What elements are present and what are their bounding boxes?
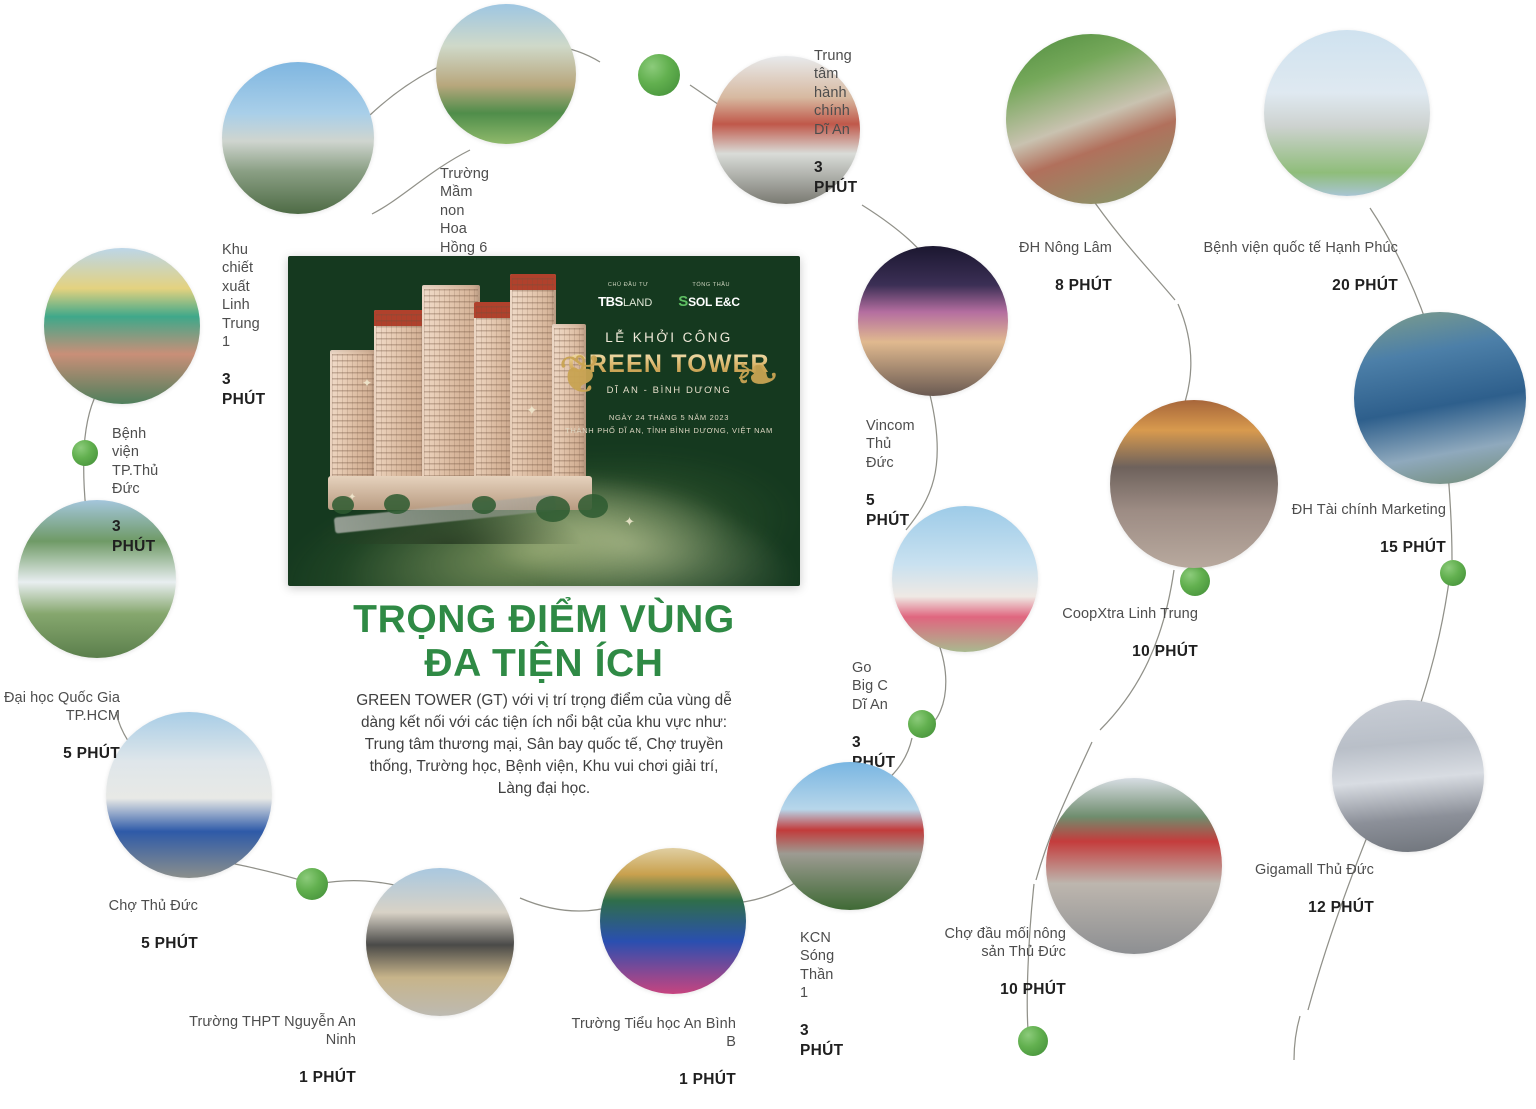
solenc-logo-mark: S (678, 293, 688, 310)
poi-name: Đại học Quốc Gia TP.HCM (2, 689, 120, 726)
photo-placeholder (1332, 700, 1484, 852)
sparkle-icon: ✦ (348, 492, 356, 503)
poi-image-kcn-song-than-1 (776, 762, 924, 910)
solenc-logo: SSOL E&C (678, 293, 740, 310)
poi-caption-dai-hoc-quoc-gia-tphcm: Đại học Quốc Gia TP.HCM 5 PHÚT (2, 670, 120, 783)
poi-name: Chợ Thủ Đức (60, 897, 198, 916)
poi-caption-cho-thu-duc: Chợ Thủ Đức 5 PHÚT (60, 878, 198, 972)
tower-c (422, 285, 480, 500)
poi-time: 12 PHÚT (1234, 898, 1374, 918)
poi-caption-trung-tam-hanh-chinh-di-an: Trung tâm hành chính Dĩ An 3 PHÚT (814, 28, 857, 216)
poster-location-text: DĨ AN - BÌNH DƯƠNG (599, 385, 740, 396)
photo-placeholder (600, 848, 746, 994)
sparkle-icon: ✦ (624, 514, 635, 530)
tree (472, 496, 496, 514)
photo-placeholder (366, 868, 514, 1016)
poi-time: 3 PHÚT (814, 158, 857, 198)
infographic-canvas: Khu chiết xuất Linh Trung 1 3 PHÚT Trườn… (0, 0, 1536, 1062)
photo-placeholder (44, 248, 200, 404)
poi-caption-benh-vien-quoc-te-hanh-phuc: Bệnh viện quốc tế Hạnh Phúc 20 PHÚT (1170, 220, 1398, 314)
poi-caption-truong-thpt-nguyen-an-ninh: Trường THPT Nguyễn An Ninh 1 PHÚT (180, 994, 356, 1107)
poi-caption-gigamall-thu-duc: Gigamall Thủ Đức 12 PHÚT (1234, 842, 1374, 936)
photo-placeholder (776, 762, 924, 910)
poi-time: 20 PHÚT (1170, 276, 1398, 296)
laurel-left-icon: ❦ (558, 348, 603, 402)
photo-placeholder (1354, 312, 1526, 484)
photo-placeholder (892, 506, 1038, 652)
tower-roof-accent (374, 310, 426, 326)
poi-time: 5 PHÚT (2, 744, 120, 764)
poi-image-benh-vien-tp-thu-duc (44, 248, 200, 404)
path-dot-left-upper (72, 440, 98, 466)
poster-place-line: THÀNH PHỐ DĨ AN, TỈNH BÌNH DƯƠNG, VIỆT N… (554, 426, 784, 435)
poi-time: 3 PHÚT (222, 370, 265, 410)
poi-image-cho-dau-moi-nong-san-thu-duc (1046, 778, 1222, 954)
poi-time: 10 PHÚT (940, 980, 1066, 1000)
poi-time: 10 PHÚT (1010, 642, 1198, 662)
poi-caption-coopxtra-linh-trung: CoopXtra Linh Trung 10 PHÚT (1010, 586, 1198, 680)
photo-placeholder (1264, 30, 1430, 196)
poster-logos: TBSLAND SSOL E&C (554, 293, 784, 310)
tower-b (374, 310, 426, 500)
headline-line-2: ĐA TIỆN ÍCH (288, 642, 800, 686)
poster-role-labels: CHỦ ĐẦU TƯ TỔNG THẦU (554, 282, 784, 288)
poi-time: 3 PHÚT (800, 1021, 843, 1061)
path-dot-top (638, 54, 680, 96)
poi-caption-cho-dau-moi-nong-san-thu-duc: Chợ đầu mối nông sản Thủ Đức 10 PHÚT (940, 906, 1066, 1019)
poi-image-truong-mam-non-hoa-hong-6 (436, 4, 576, 144)
poster-event-line: LỄ KHỞI CÔNG (554, 330, 784, 345)
photo-placeholder (1046, 778, 1222, 954)
poi-image-truong-thpt-nguyen-an-ninh (366, 868, 514, 1016)
poi-image-dh-tai-chinh-marketing (1354, 312, 1526, 484)
tower-d (474, 302, 514, 500)
poi-image-benh-vien-quoc-te-hanh-phuc (1264, 30, 1430, 196)
poi-name: Trường Tiểu học An Bình B (560, 1015, 736, 1052)
path-dot-bottom-center (908, 710, 936, 738)
tower-roof-accent (474, 302, 514, 318)
poi-time: 1 PHÚT (180, 1068, 356, 1088)
poi-image-go-big-c-di-an (892, 506, 1038, 652)
poi-name: Trung tâm hành chính Dĩ An (814, 47, 857, 140)
path-dot-bottom-left (296, 868, 328, 900)
photo-placeholder (858, 246, 1008, 396)
project-poster: ✦ ✦ ✦ ✦ CHỦ ĐẦU TƯ TỔNG THẦU TBSLAND SSO… (288, 256, 800, 586)
photo-placeholder (222, 62, 374, 214)
poi-name: Vincom Thủ Đức (866, 417, 915, 473)
poi-name: Chợ đầu mối nông sản Thủ Đức (940, 925, 1066, 962)
photo-placeholder (1110, 400, 1278, 568)
solenc-logo-text: SOL E&C (688, 295, 740, 309)
poster-date-line: NGÀY 24 THÁNG 5 NĂM 2023 (554, 413, 784, 422)
poi-time: 1 PHÚT (560, 1070, 736, 1090)
tbsland-logo-mark: TBS (598, 294, 623, 309)
photo-placeholder (436, 4, 576, 144)
poi-name: Gigamall Thủ Đức (1234, 861, 1374, 880)
sparkle-icon: ✦ (526, 402, 538, 419)
poi-image-cho-thu-duc (106, 712, 272, 878)
poi-name: KCN Sóng Thần 1 (800, 929, 843, 1003)
tbsland-logo-suffix: LAND (623, 297, 652, 309)
page-title: TRỌNG ĐIỂM VÙNG ĐA TIỆN ÍCH (288, 598, 800, 687)
poi-name: Go Big C Dĩ An (852, 659, 895, 715)
poi-name: Bệnh viện quốc tế Hạnh Phúc (1170, 239, 1398, 258)
poi-caption-kcn-song-than-1: KCN Sóng Thần 1 3 PHÚT (800, 910, 843, 1079)
headline-line-1: TRỌNG ĐIỂM VÙNG (288, 598, 800, 642)
poi-caption-khu-chiet-xuat-linh-trung-1: Khu chiết xuất Linh Trung 1 3 PHÚT (222, 222, 265, 429)
intro-paragraph: GREEN TOWER (GT) với vị trí trọng điểm c… (352, 690, 736, 799)
tower-e (510, 274, 556, 500)
poi-name: Trường Mầm non Hoa Hồng 6 (440, 165, 489, 258)
photo-placeholder (106, 712, 272, 878)
poi-caption-benh-vien-tp-thu-duc: Bệnh viện TP.Thủ Đức 3 PHÚT (112, 406, 158, 575)
poi-image-dh-nong-lam (1006, 34, 1176, 204)
poi-image-coopxtra-linh-trung (1110, 400, 1278, 568)
contractor-label: TỔNG THẦU (692, 282, 730, 288)
poi-time: 3 PHÚT (112, 517, 158, 557)
tree (384, 494, 410, 514)
tbsland-logo: TBSLAND (598, 294, 652, 309)
tree (536, 496, 570, 522)
poi-caption-truong-tieu-hoc-an-binh-b: Trường Tiểu học An Bình B 1 PHÚT (560, 996, 736, 1109)
photo-placeholder (1006, 34, 1176, 204)
laurel-right-icon: ❧ (735, 348, 780, 402)
poi-name: Khu chiết xuất Linh Trung 1 (222, 241, 265, 352)
sparkle-icon: ✦ (362, 376, 372, 390)
poi-name: CoopXtra Linh Trung (1010, 605, 1198, 624)
poi-name: Bệnh viện TP.Thủ Đức (112, 425, 158, 499)
poi-image-truong-tieu-hoc-an-binh-b (600, 848, 746, 994)
poi-image-gigamall-thu-duc (1332, 700, 1484, 852)
poi-name: Trường THPT Nguyễn An Ninh (180, 1013, 356, 1050)
path-dot-bottom-right (1018, 1026, 1048, 1056)
poster-text-column: CHỦ ĐẦU TƯ TỔNG THẦU TBSLAND SSOL E&C ❦ … (554, 282, 784, 435)
tree (578, 494, 608, 518)
poi-image-vincom-thu-duc (858, 246, 1008, 396)
investor-label: CHỦ ĐẦU TƯ (608, 282, 649, 288)
tower-roof-accent (510, 274, 556, 290)
poi-image-khu-chiet-xuat-linh-trung-1 (222, 62, 374, 214)
poi-time: 5 PHÚT (60, 934, 198, 954)
